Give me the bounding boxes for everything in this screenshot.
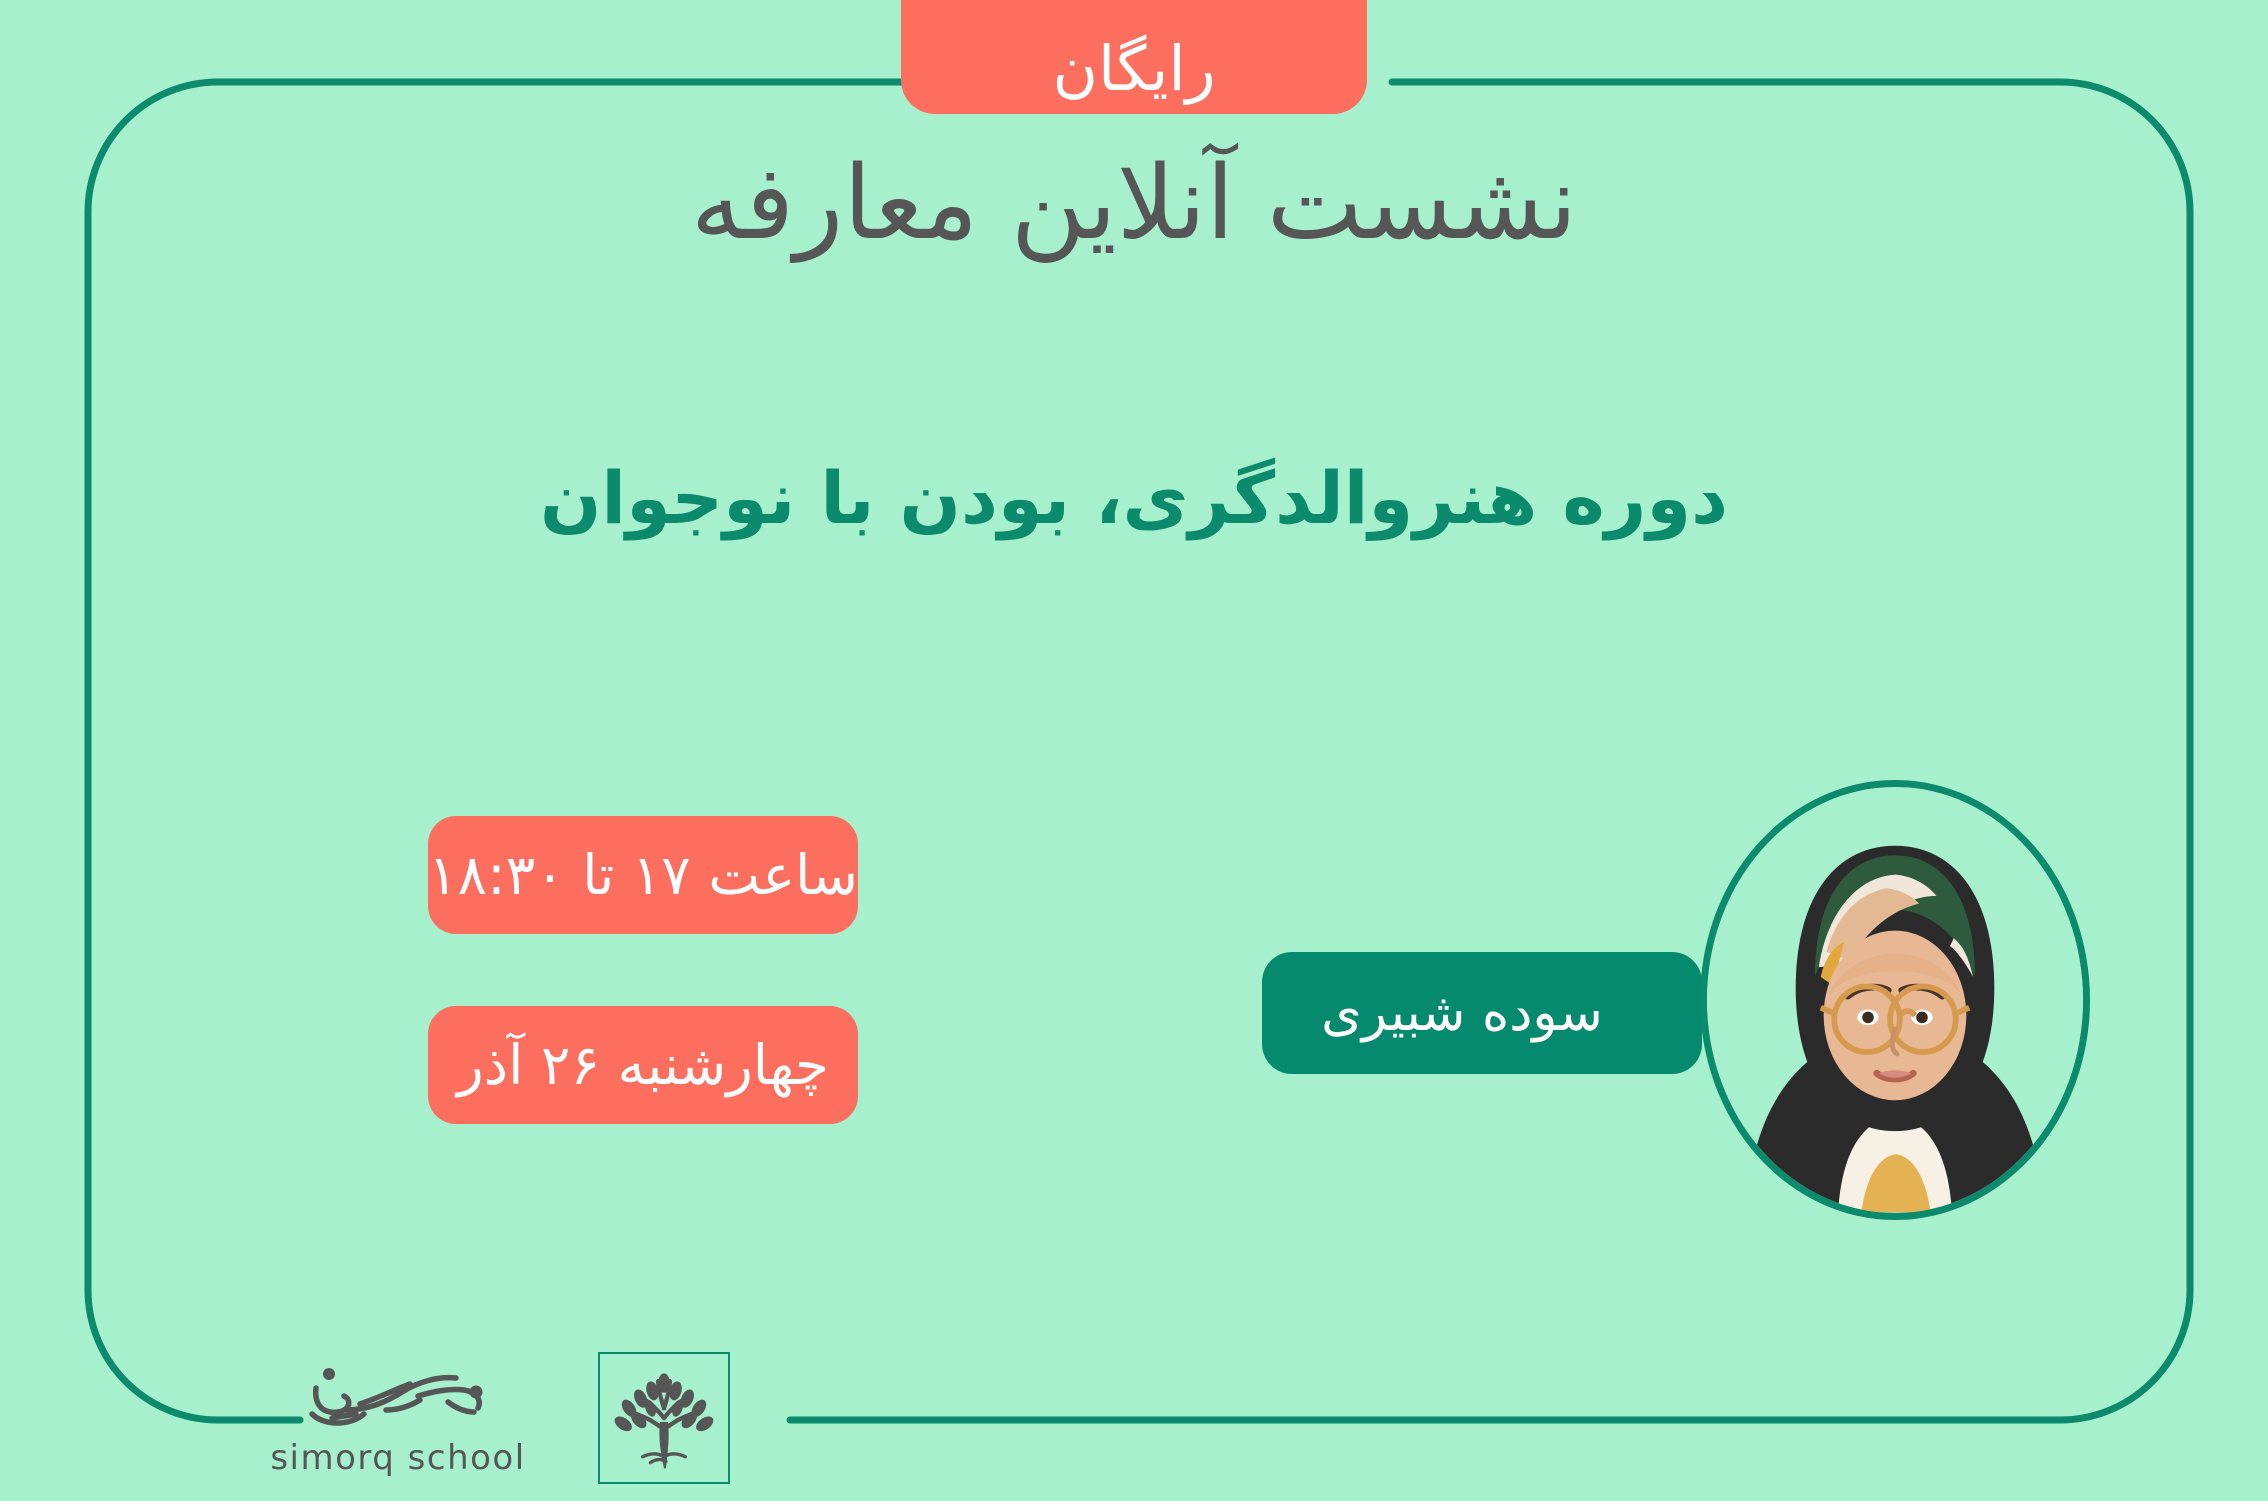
time-badge-label: ساعت ۱۷ تا ۱۸:۳۰: [428, 848, 858, 903]
tree-icon: [600, 1354, 728, 1482]
free-badge: رایگان: [901, 0, 1367, 114]
poster-canvas: رایگان نشست آنلاین معارفه دوره هنروالدگر…: [0, 0, 2268, 1501]
baghestan-logo: [598, 1352, 730, 1484]
page-title: نشست آنلاین معارفه: [0, 140, 2268, 268]
free-badge-label: رایگان: [1052, 38, 1215, 100]
speaker-name-badge: سوده شبیری: [1262, 952, 1702, 1074]
simorq-school-wordmark: simorq school: [268, 1438, 528, 1478]
speaker-avatar: [1700, 780, 2090, 1220]
simorq-bird-icon: [298, 1352, 498, 1436]
date-badge: چهارشنبه ۲۶ آذر: [428, 1006, 858, 1124]
date-badge-label: چهارشنبه ۲۶ آذر: [457, 1038, 829, 1093]
speaker-name-label: سوده شبیری: [1321, 987, 1603, 1039]
page-subtitle: دوره هنروالدگری، بودن با نوجوان: [0, 452, 2268, 546]
time-badge: ساعت ۱۷ تا ۱۸:۳۰: [428, 816, 858, 934]
speaker-portrait-illustration: [1707, 787, 2083, 1213]
simorq-school-logo: simorq school: [268, 1352, 528, 1482]
